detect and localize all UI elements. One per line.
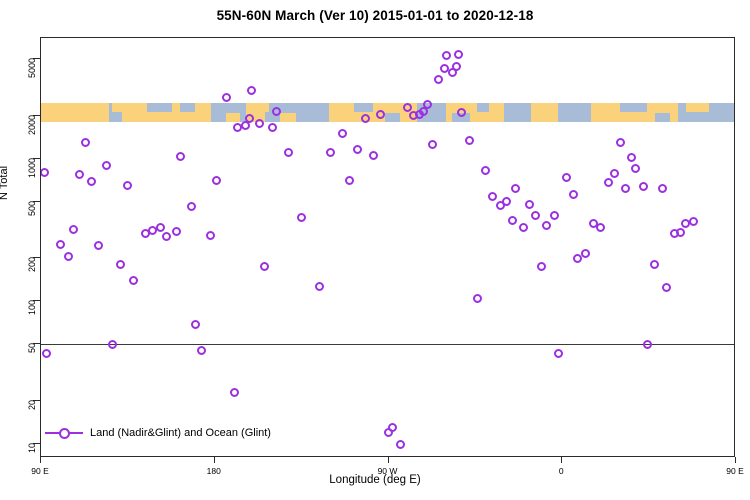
scatter-point — [268, 123, 277, 132]
scatter-point — [658, 184, 667, 193]
scatter-point — [604, 178, 613, 187]
y-tick: 1000 — [0, 158, 40, 159]
scatter-point — [388, 423, 397, 432]
x-tick-mark — [735, 457, 736, 463]
geo-band-segment-ocean — [180, 103, 195, 112]
x-tick: 0 — [561, 457, 562, 458]
scatter-point — [260, 262, 269, 271]
scatter-point — [423, 100, 432, 109]
scatter-point — [187, 202, 196, 211]
geo-band-segment-land — [251, 103, 268, 112]
x-tick: 180 — [214, 457, 215, 458]
scatter-point — [197, 346, 206, 355]
y-tick-label: 500 — [27, 201, 37, 216]
y-tick: 500 — [0, 201, 40, 202]
scatter-point — [676, 228, 685, 237]
scatter-point — [222, 93, 231, 102]
scatter-point — [315, 282, 324, 291]
land-ocean-band — [41, 103, 735, 122]
y-tick: 50 — [0, 343, 40, 344]
legend-label: Land (Nadir&Glint) and Ocean (Glint) — [90, 427, 271, 439]
scatter-point — [610, 169, 619, 178]
scatter-point — [519, 223, 528, 232]
geo-band-segment-ocean — [477, 103, 489, 112]
scatter-point — [531, 211, 540, 220]
y-tick: 200 — [0, 257, 40, 258]
scatter-point — [108, 340, 117, 349]
geo-band-segment-land — [686, 103, 709, 112]
scatter-point — [94, 241, 103, 250]
scatter-point — [64, 252, 73, 261]
scatter-point — [481, 166, 490, 175]
scatter-point — [162, 232, 171, 241]
y-tick-label: 100 — [27, 300, 37, 315]
scatter-point — [206, 231, 215, 240]
y-tick: 5000 — [0, 58, 40, 59]
x-tick: 90 W — [388, 457, 389, 458]
x-tick: 90 E — [735, 457, 736, 458]
x-tick: 90 E — [40, 457, 41, 458]
x-tick-mark — [388, 457, 389, 463]
geo-band-segment-ocean — [655, 113, 670, 122]
scatter-point — [123, 181, 132, 190]
scatter-point — [42, 349, 51, 358]
scatter-point — [428, 140, 437, 149]
scatter-point — [40, 168, 49, 177]
x-axis-label: Longitude (deg E) — [0, 474, 750, 486]
geo-band-segment-land — [531, 103, 558, 122]
geo-band-segment-ocean — [558, 103, 591, 122]
scatter-point — [502, 197, 511, 206]
scatter-point — [581, 249, 590, 258]
scatter-point — [102, 161, 111, 170]
y-tick-label: 1000 — [27, 158, 37, 178]
x-tick-label: 180 — [207, 466, 221, 476]
y-tick-label: 50 — [27, 343, 37, 353]
scatter-point — [56, 240, 65, 249]
scatter-point — [525, 200, 534, 209]
scatter-point — [338, 129, 347, 138]
y-tick-label: 2000 — [27, 115, 37, 135]
scatter-point — [345, 176, 354, 185]
scatter-point — [465, 136, 474, 145]
scatter-point — [616, 138, 625, 147]
scatter-point — [643, 340, 652, 349]
chart-legend: Land (Nadir&Glint) and Ocean (Glint) — [45, 422, 271, 444]
scatter-point — [172, 227, 181, 236]
scatter-point — [473, 294, 482, 303]
scatter-point — [639, 182, 648, 191]
y-tick-label: 5000 — [27, 58, 37, 78]
plot-area — [40, 37, 735, 457]
scatter-point — [69, 225, 78, 234]
chart-title: 55N-60N March (Ver 10) 2015-01-01 to 202… — [0, 8, 750, 23]
scatter-point — [87, 177, 96, 186]
geo-band-segment-land — [112, 103, 126, 112]
scatter-point — [452, 62, 461, 71]
scatter-point — [81, 138, 90, 147]
geo-band-segment-land — [226, 113, 240, 122]
scatter-point — [396, 440, 405, 449]
scatter-point — [542, 221, 551, 230]
geo-band-segment-ocean — [147, 103, 172, 112]
scatter-point — [191, 320, 200, 329]
scatter-point — [662, 283, 671, 292]
scatter-point — [442, 51, 451, 60]
scatter-point — [326, 148, 335, 157]
x-tick-mark — [561, 457, 562, 463]
scatter-point — [508, 216, 517, 225]
scatter-point — [156, 223, 165, 232]
scatter-point — [631, 164, 640, 173]
scatter-point — [75, 170, 84, 179]
scatter-point — [176, 152, 185, 161]
y-tick-label: 10 — [27, 443, 37, 453]
geo-band-segment-ocean — [385, 113, 400, 122]
scatter-point — [129, 276, 138, 285]
scatter-point — [596, 223, 605, 232]
scatter-point — [376, 110, 385, 119]
scatter-point — [554, 349, 563, 358]
scatter-point — [537, 262, 546, 271]
y-tick: 20 — [0, 400, 40, 401]
legend-marker-swatch — [45, 428, 83, 439]
chart-figure: 55N-60N March (Ver 10) 2015-01-01 to 202… — [0, 0, 750, 500]
geo-band-segment-ocean — [354, 103, 373, 112]
scatter-point — [230, 388, 239, 397]
scatter-point — [247, 86, 256, 95]
x-tick-mark — [214, 457, 215, 463]
scatter-point — [621, 184, 630, 193]
scatter-point — [488, 192, 497, 201]
scatter-point — [116, 260, 125, 269]
scatter-point — [689, 217, 698, 226]
scatter-point — [650, 260, 659, 269]
y-tick: 10 — [0, 443, 40, 444]
legend-circle-icon — [59, 428, 70, 439]
geo-band-segment-ocean — [504, 103, 531, 122]
scatter-point — [627, 153, 636, 162]
scatter-point — [272, 107, 281, 116]
x-tick-label: 90 E — [31, 466, 49, 476]
geo-band-segment-ocean — [620, 103, 647, 112]
y-tick-label: 200 — [27, 257, 37, 272]
scatter-point — [511, 184, 520, 193]
scatter-point — [212, 176, 221, 185]
geo-band-segment-land — [41, 103, 109, 122]
x-tick-label: 0 — [559, 466, 564, 476]
scatter-point — [454, 50, 463, 59]
y-tick: 100 — [0, 300, 40, 301]
scatter-point — [353, 145, 362, 154]
scatter-point — [284, 148, 293, 157]
scatter-point — [569, 190, 578, 199]
scatter-point — [550, 211, 559, 220]
x-tick-label: 90 W — [378, 466, 398, 476]
x-tick-mark — [40, 457, 41, 463]
y-tick-label: 20 — [27, 400, 37, 410]
scatter-point — [562, 173, 571, 182]
y-tick: 2000 — [0, 115, 40, 116]
scatter-point — [297, 213, 306, 222]
reference-line — [41, 344, 735, 345]
scatter-point — [369, 151, 378, 160]
x-tick-label: 90 E — [726, 466, 744, 476]
scatter-point — [434, 75, 443, 84]
scatter-point — [255, 119, 264, 128]
scatter-point — [403, 103, 412, 112]
geo-band-segment-land — [280, 113, 295, 122]
